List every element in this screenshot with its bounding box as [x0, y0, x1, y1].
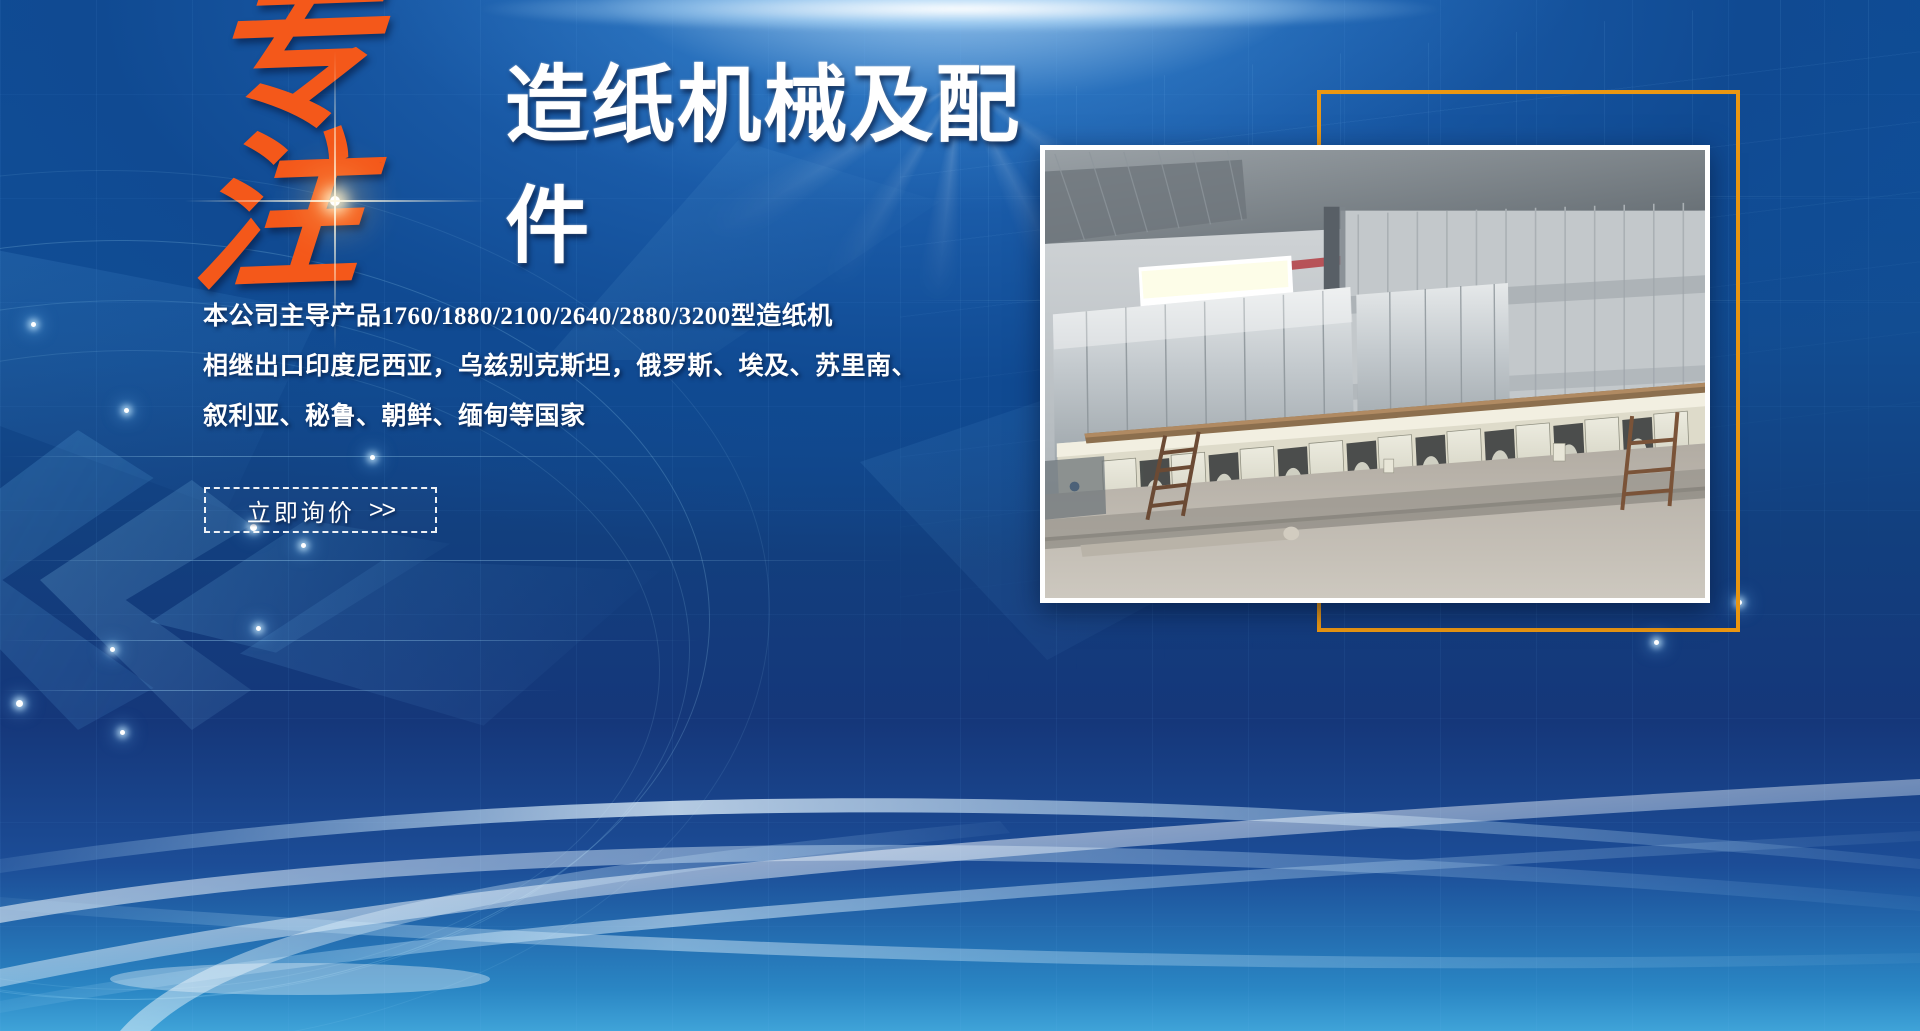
product-photo-image [1045, 150, 1705, 598]
headline-accent: 专注 [188, 0, 505, 303]
inquiry-button-label: 立即询价 [247, 493, 355, 528]
page-title: 造纸机械及配件 [505, 38, 1050, 298]
description-block: 本公司主导产品1760/1880/2100/2640/2880/3200型造纸机… [203, 292, 883, 442]
inquiry-button[interactable]: 立即询价 >> [204, 487, 437, 533]
double-chevron-right-icon: >> [369, 496, 394, 525]
banner-content: 专注 造纸机械及配件 本公司主导产品1760/1880/2100/2640/28… [0, 0, 1050, 1031]
description-line: 叙利亚、秘鲁、朝鲜、缅甸等国家 [203, 392, 883, 442]
description-line: 相继出口印度尼西亚，乌兹别克斯坦，俄罗斯、埃及、苏里南、 [203, 342, 883, 392]
promo-banner: 专注 造纸机械及配件 本公司主导产品1760/1880/2100/2640/28… [0, 0, 1920, 1031]
description-line: 本公司主导产品1760/1880/2100/2640/2880/3200型造纸机 [203, 292, 883, 342]
headline: 专注 造纸机械及配件 [200, 108, 1050, 298]
product-photo[interactable] [1040, 145, 1710, 603]
sparkle-star-icon [330, 196, 340, 206]
